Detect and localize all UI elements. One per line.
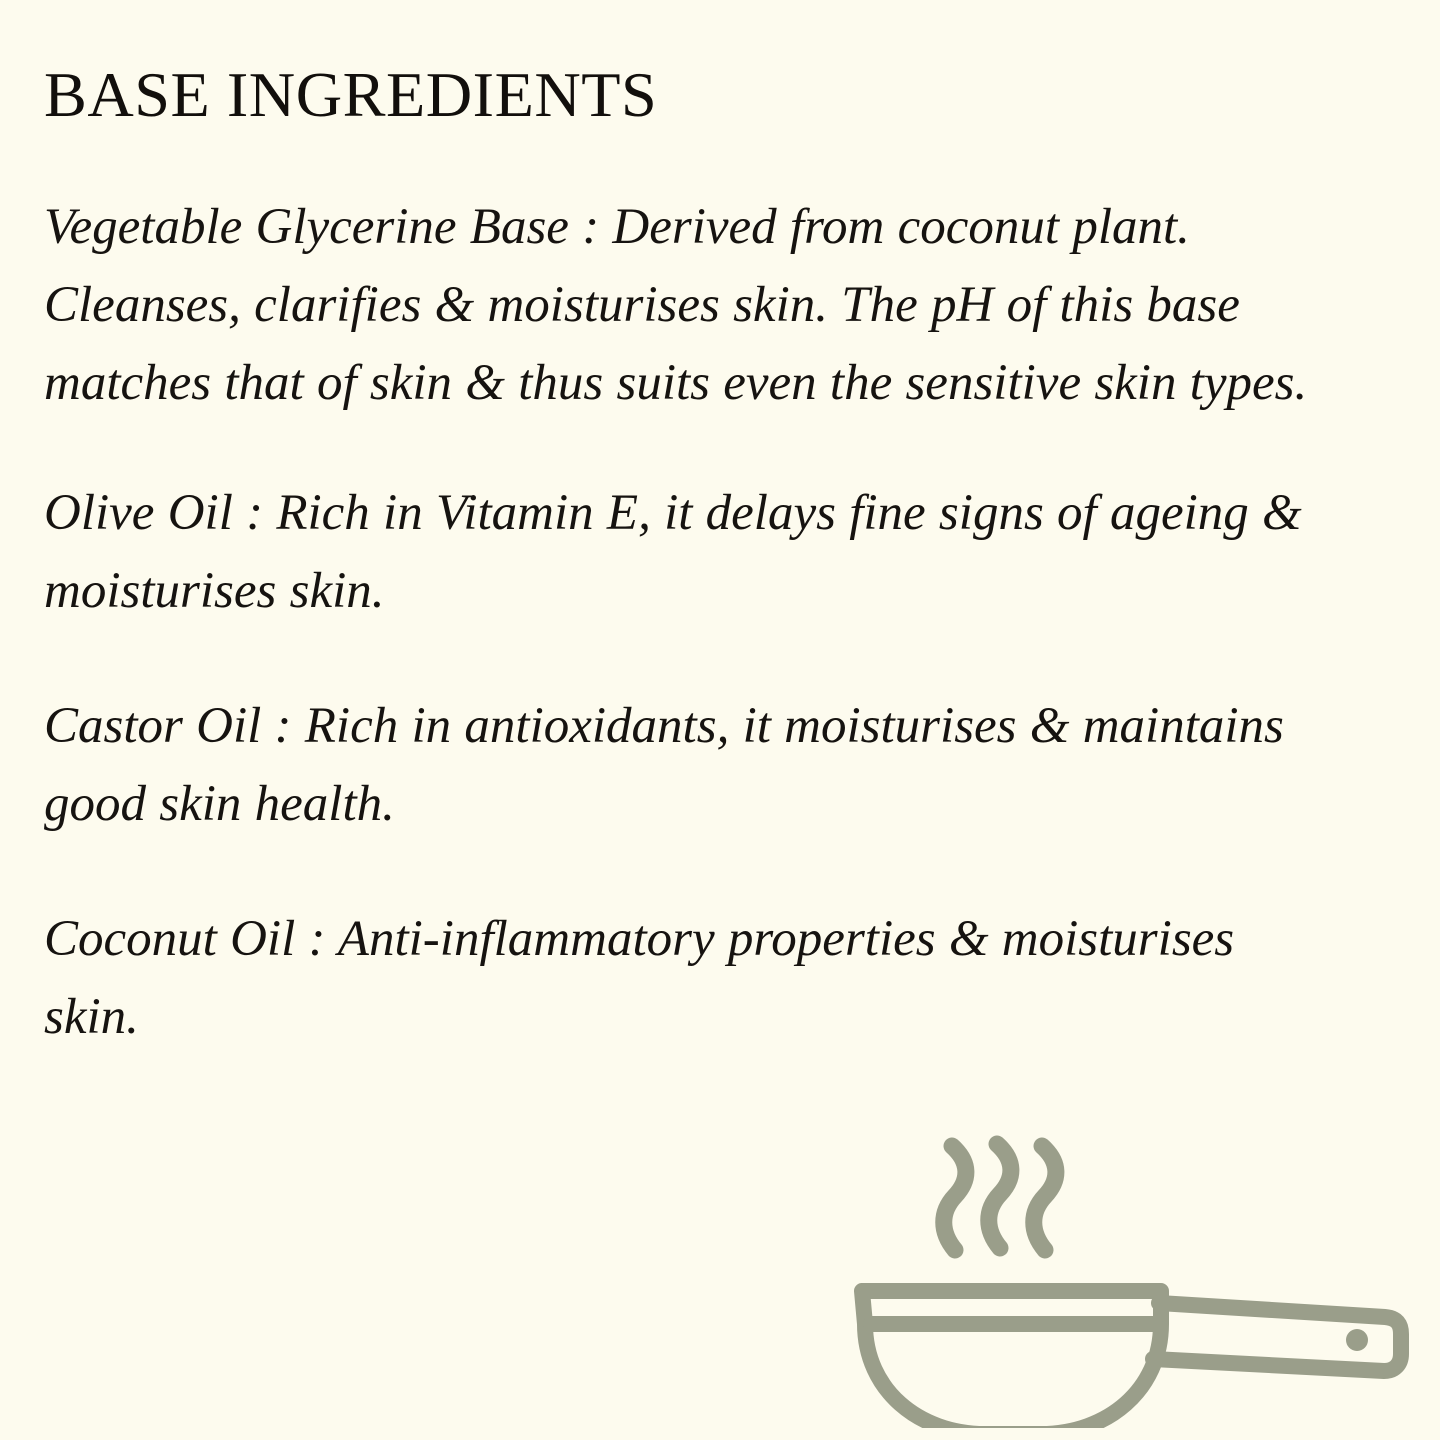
ingredient-paragraph-coconut-oil: Coconut Oil : Anti-inflammatory properti… xyxy=(44,900,1304,1056)
frying-pan-svg xyxy=(845,1128,1415,1428)
pan-handle-hole-icon xyxy=(1346,1329,1368,1351)
ingredients-page: BASE INGREDIENTS Vegetable Glycerine Bas… xyxy=(0,0,1440,1440)
steam-wisp-3 xyxy=(1034,1146,1056,1250)
pan-handle-group xyxy=(1153,1303,1401,1371)
page-title: BASE INGREDIENTS xyxy=(44,64,657,127)
steam-wisp-group xyxy=(944,1144,1056,1250)
pan-handle-outline xyxy=(1153,1303,1401,1371)
steam-wisp-1 xyxy=(944,1146,966,1250)
ingredient-paragraph-vegetable-glycerine-base: Vegetable Glycerine Base : Derived from … xyxy=(44,188,1389,422)
pan-body-group xyxy=(862,1291,1161,1428)
steam-wisp-2 xyxy=(989,1144,1011,1248)
ingredients-list: Vegetable Glycerine Base : Derived from … xyxy=(44,188,1404,1056)
frying-pan-with-steam-icon xyxy=(845,1128,1415,1428)
ingredient-paragraph-olive-oil: Olive Oil : Rich in Vitamin E, it delays… xyxy=(44,474,1424,630)
pan-bowl-outline xyxy=(862,1291,1161,1428)
ingredient-paragraph-castor-oil: Castor Oil : Rich in antioxidants, it mo… xyxy=(44,687,1389,843)
